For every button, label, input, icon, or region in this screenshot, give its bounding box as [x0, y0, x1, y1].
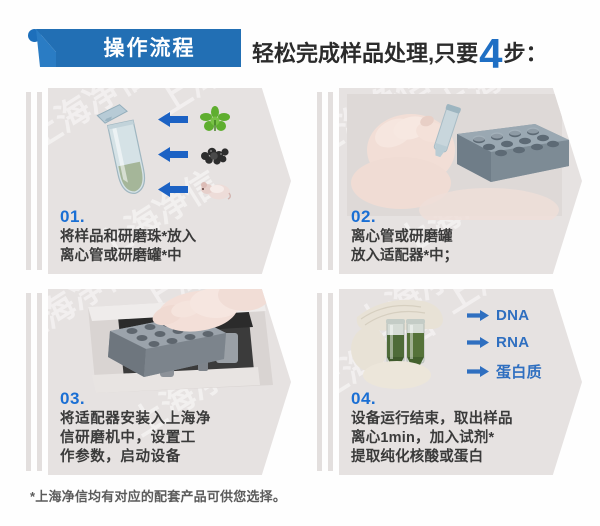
output-label: 蛋白质: [496, 361, 542, 382]
step-description: 设备运行结束，取出样品 离心1min，加入试剂* 提取纯化核酸或蛋白: [351, 410, 574, 467]
step-number: 03.: [60, 390, 283, 409]
step-line: 离心1min，加入试剂*: [351, 429, 574, 448]
sample-row-beads: [158, 143, 278, 165]
step-description: 将适配器安装入上海净 信研磨机中，设置工 作参数，启动设备: [60, 410, 283, 467]
footnote: *上海净信均有对应的配套产品可供您选择。: [30, 486, 286, 505]
step-description: 将样品和研磨珠*放入 离心管或研磨罐*中: [60, 228, 283, 266]
step-card-body: 上海净信 上海净信 上海净信: [339, 289, 582, 475]
output-label-list: DNA RNA 蛋白质: [467, 307, 577, 392]
card-stripe-outer: [317, 293, 322, 471]
step-line: 信研磨机中，设置工: [60, 429, 283, 448]
card-stripe-inner: [37, 293, 42, 471]
headline-suffix: 步：: [503, 36, 547, 68]
card-stripe-inner: [328, 92, 333, 270]
card-text: 01. 将样品和研磨珠*放入 离心管或研磨罐*中: [60, 208, 283, 266]
arrow-left-icon: [158, 182, 188, 197]
card-text: 04. 设备运行结束，取出样品 离心1min，加入试剂* 提取纯化核酸或蛋白: [351, 390, 574, 467]
infographic-page: 操作流程 轻松完成样品处理,只要 4 步： 上海净信 上海净信 上海净信: [0, 0, 600, 526]
step-line: 离心管或研磨罐*中: [60, 247, 283, 266]
arrow-left-icon: [158, 147, 188, 162]
mouse-icon: [197, 176, 233, 202]
gloved-hand-tubes-photo: [339, 289, 474, 399]
output-item-rna: RNA: [467, 334, 577, 351]
step-card-body: 上海净信 上海净信 上海净信: [48, 88, 291, 274]
step-number: 04.: [351, 390, 574, 409]
section-tag-banner: 操作流程: [36, 26, 241, 68]
arrow-right-icon: [467, 366, 489, 377]
card-text: 02. 离心管或研磨罐 放入适配器*中；: [351, 208, 574, 266]
card-artwork-hand-adapter: [339, 88, 582, 220]
card-stripe-outer: [317, 92, 322, 270]
centrifuge-tube-icon: [96, 102, 160, 206]
arrow-right-icon: [467, 310, 489, 321]
card-artwork-tubes: [339, 289, 474, 399]
step-line: 离心管或研磨罐: [351, 228, 574, 247]
card-artwork-tube-samples: [48, 88, 291, 218]
headline-prefix: 轻松完成样品处理,只要: [252, 36, 478, 68]
plant-leaf-icon: [197, 106, 233, 132]
arrow-left-icon: [158, 112, 188, 127]
arrow-right-icon: [467, 337, 489, 348]
headline-step-count: 4: [479, 33, 502, 75]
step-card-03: 上海净信 上海净信 上海净信: [26, 289, 291, 475]
step-line: 作参数，启动设备: [60, 448, 283, 467]
sample-row-mouse: [158, 178, 278, 200]
step-card-body: 上海净信 上海净信 上海净信: [339, 88, 582, 274]
output-label: DNA: [496, 307, 529, 324]
card-stripe-inner: [37, 92, 42, 270]
card-artwork-grinder: [48, 289, 291, 401]
step-card-02: 上海净信 上海净信 上海净信: [317, 88, 582, 274]
sample-row-plant: [158, 108, 278, 130]
step-card-01: 上海净信 上海净信 上海净信: [26, 88, 291, 274]
step-line: 将适配器安装入上海净: [60, 410, 283, 429]
step-line: 放入适配器*中；: [351, 247, 574, 266]
card-stripe-outer: [26, 293, 31, 471]
output-label: RNA: [496, 334, 529, 351]
card-stripe-inner: [328, 293, 333, 471]
output-item-protein: 蛋白质: [467, 361, 577, 382]
card-text: 03. 将适配器安装入上海净 信研磨机中，设置工 作参数，启动设备: [60, 390, 283, 467]
step-card-04: 上海净信 上海净信 上海净信: [317, 289, 582, 475]
step-card-body: 上海净信 上海净信 上海净信: [48, 289, 291, 475]
section-tag-label: 操作流程: [36, 26, 241, 68]
step-line: 将样品和研磨珠*放入: [60, 228, 283, 247]
headline: 轻松完成样品处理,只要 4 步：: [252, 28, 548, 76]
step-number: 01.: [60, 208, 283, 227]
hand-inserting-tube-photo: [339, 88, 582, 220]
grinding-beads-icon: [197, 141, 233, 167]
step-number: 02.: [351, 208, 574, 227]
output-item-dna: DNA: [467, 307, 577, 324]
step-line: 提取纯化核酸或蛋白: [351, 448, 574, 467]
hand-placing-adapter-photo: [48, 289, 291, 401]
step-line: 设备运行结束，取出样品: [351, 410, 574, 429]
header: 操作流程 轻松完成样品处理,只要 4 步：: [0, 0, 600, 88]
card-stripe-outer: [26, 92, 31, 270]
step-description: 离心管或研磨罐 放入适配器*中；: [351, 228, 574, 266]
